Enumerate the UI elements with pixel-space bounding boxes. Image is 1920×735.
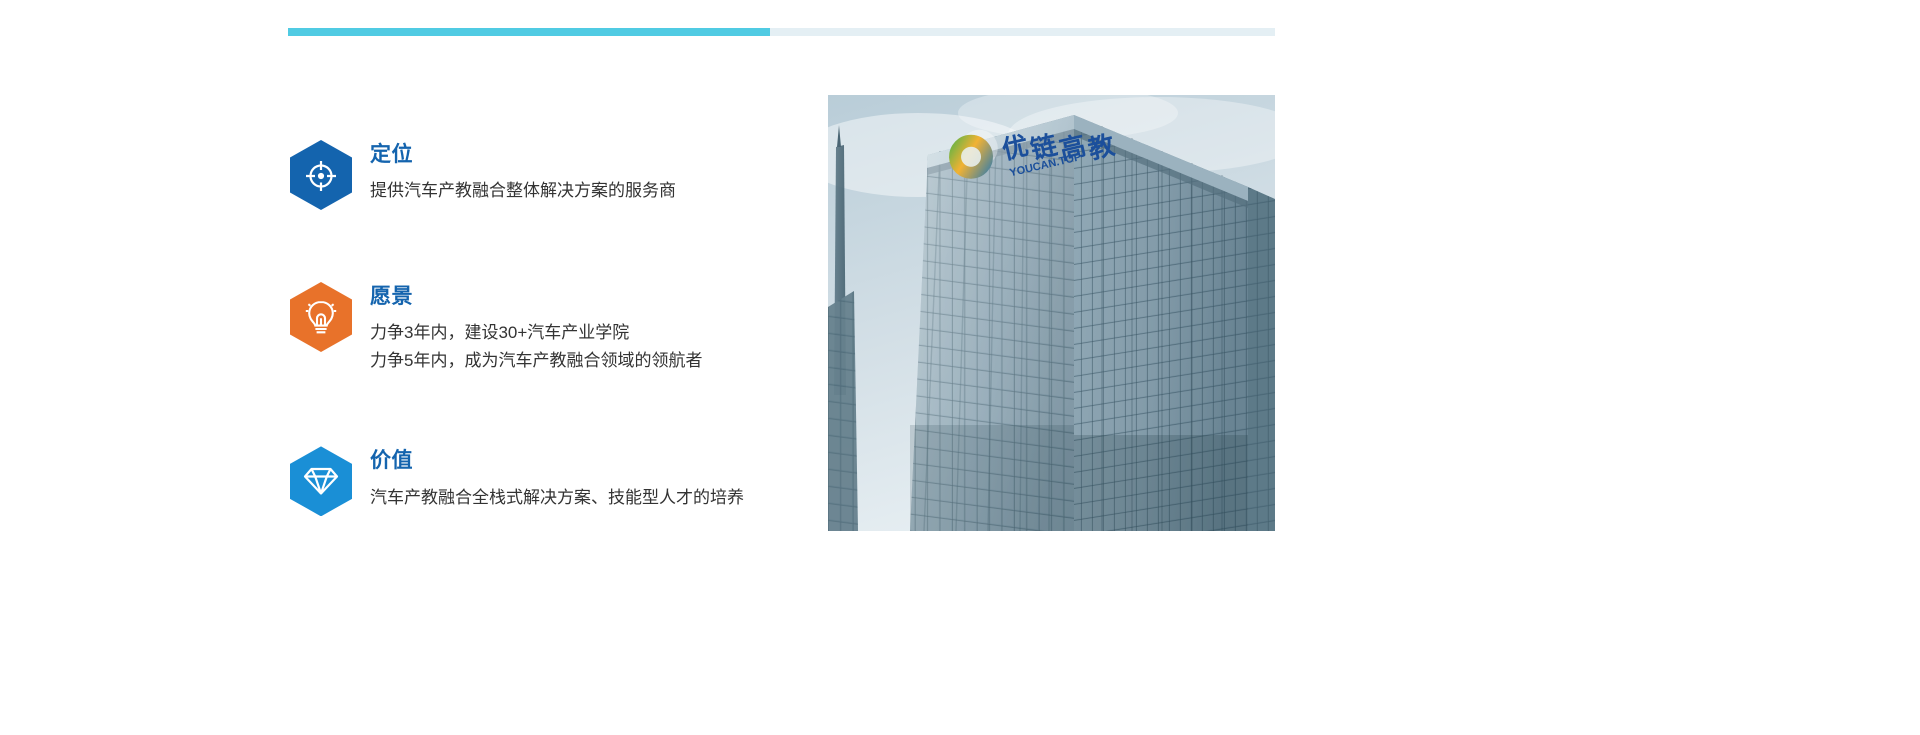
feature-item-value: 价值 汽车产教融合全栈式解决方案、技能型人才的培养 — [290, 446, 810, 516]
feature-description-line: 提供汽车产教融合整体解决方案的服务商 — [370, 177, 676, 205]
hexagon-shape — [290, 140, 352, 210]
building-photo-illustration: 优 链 高 教 YOUCAN.TOP — [828, 95, 1275, 531]
feature-icon-wrap-vision — [290, 282, 352, 352]
feature-title: 价值 — [370, 448, 744, 474]
feature-icon-wrap-positioning — [290, 140, 352, 210]
feature-text-positioning: 定位 提供汽车产教融合整体解决方案的服务商 — [370, 140, 676, 205]
feature-item-positioning: 定位 提供汽车产教融合整体解决方案的服务商 — [290, 140, 810, 210]
feature-list: 定位 提供汽车产教融合整体解决方案的服务商 — [290, 140, 810, 516]
feature-description: 汽车产教融合全栈式解决方案、技能型人才的培养 — [370, 484, 744, 512]
building-photo: 优 链 高 教 YOUCAN.TOP — [828, 95, 1275, 531]
target-icon — [304, 158, 338, 192]
feature-title: 愿景 — [370, 284, 702, 310]
divider-accent-segment — [288, 28, 770, 36]
feature-description-line: 力争5年内，成为汽车产教融合领域的领航者 — [370, 347, 702, 375]
feature-item-vision: 愿景 力争3年内，建设30+汽车产业学院 力争5年内，成为汽车产教融合领域的领航… — [290, 282, 810, 374]
feature-text-vision: 愿景 力争3年内，建设30+汽车产业学院 力争5年内，成为汽车产教融合领域的领航… — [370, 282, 702, 374]
slide-root: 定位 提供汽车产教融合整体解决方案的服务商 — [0, 0, 1920, 735]
top-divider-bar — [288, 28, 1275, 36]
hexagon-shape — [290, 446, 352, 516]
feature-text-value: 价值 汽车产教融合全栈式解决方案、技能型人才的培养 — [370, 446, 744, 511]
hexagon-shape — [290, 282, 352, 352]
feature-description-line: 力争3年内，建设30+汽车产业学院 — [370, 319, 702, 347]
feature-description: 提供汽车产教融合整体解决方案的服务商 — [370, 177, 676, 205]
feature-icon-wrap-value — [290, 446, 352, 516]
feature-description-line: 汽车产教融合全栈式解决方案、技能型人才的培养 — [370, 484, 744, 512]
diamond-icon — [303, 466, 339, 496]
lightbulb-icon — [305, 299, 337, 335]
feature-title: 定位 — [370, 142, 676, 168]
feature-description: 力争3年内，建设30+汽车产业学院 力争5年内，成为汽车产教融合领域的领航者 — [370, 319, 702, 374]
divider-muted-segment — [770, 28, 1275, 36]
